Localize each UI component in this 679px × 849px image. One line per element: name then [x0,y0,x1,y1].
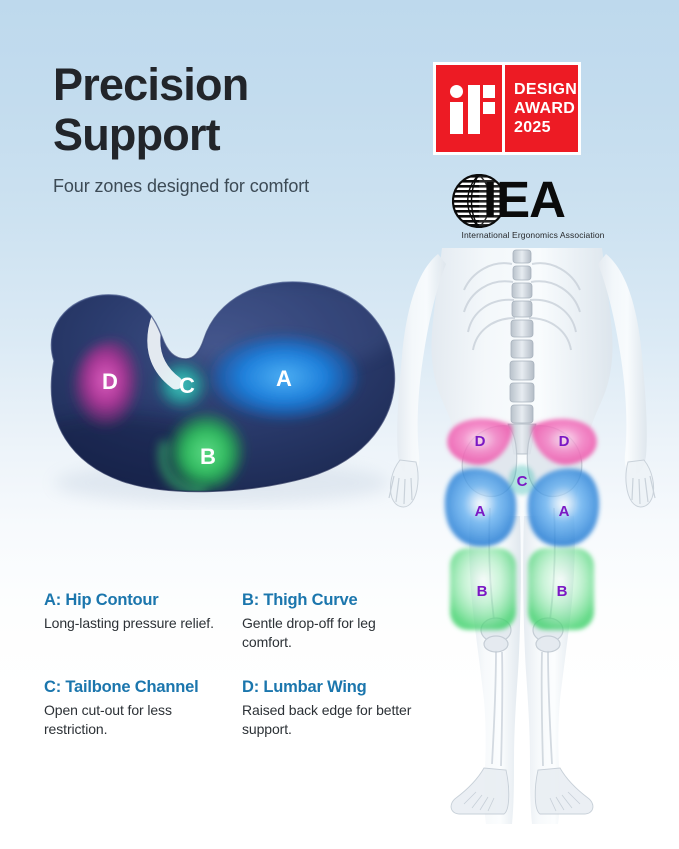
legend-item-c: C: Tailbone Channel Open cut-out for les… [44,678,242,739]
cushion-label-a: A [276,366,292,391]
right-foot [535,768,593,814]
legend-title-c: C: Tailbone Channel [44,678,228,697]
anatomy-label-d-right: D [559,433,570,450]
if-logo-stem [450,102,463,134]
legend-desc-b: Gentle drop-off for leg comfort. [242,614,426,652]
cushion-label-c: C [179,373,195,398]
if-design-award-badge: DESIGN AWARD 2025 [433,62,581,155]
left-hand [389,460,418,507]
legend-title-d: D: Lumbar Wing [242,678,426,697]
legend-title-a: A: Hip Contour [44,591,228,610]
legend-row-1: A: Hip Contour Long-lasting pressure rel… [44,591,444,652]
anatomy-label-c: C [517,473,528,490]
title-line-2: Support [53,110,413,160]
legend-desc-a: Long-lasting pressure relief. [44,614,228,633]
infographic-page: Precision Support Four zones designed fo… [0,0,679,849]
legend-item-a: A: Hip Contour Long-lasting pressure rel… [44,591,242,652]
headline-block: Precision Support Four zones designed fo… [53,60,413,198]
anatomy-label-b-left: B [477,583,488,600]
right-hand [626,460,655,507]
if-award-text: DESIGN AWARD 2025 [505,65,578,152]
cushion-label-b: B [200,444,216,469]
iea-letters: IEA [483,173,565,227]
iea-subtitle: International Ergonomics Association [454,230,612,240]
legend-item-d: D: Lumbar Wing Raised back edge for bett… [242,678,440,739]
anatomy-label-a-right: A [559,503,570,520]
if-logo-arm-1 [483,85,495,98]
anatomy-label-d-left: D [475,433,486,450]
legend-desc-d: Raised back edge for better support. [242,701,426,739]
page-subtitle: Four zones designed for comfort [53,174,413,198]
spine [510,250,534,423]
if-award-line-3: 2025 [514,118,578,137]
title-line-1: Precision [53,60,413,110]
cushion-label-d: D [102,369,118,394]
iea-logo-row: IEA [452,172,612,230]
zone-legend: A: Hip Contour Long-lasting pressure rel… [44,591,444,765]
if-award-line-1: DESIGN [514,80,578,99]
page-title: Precision Support [53,60,413,160]
if-award-line-2: AWARD [514,99,578,118]
legend-row-2: C: Tailbone Channel Open cut-out for les… [44,678,444,739]
legend-desc-c: Open cut-out for less restriction. [44,701,228,739]
if-logo-bar [468,85,480,134]
if-logo-dot [450,85,463,98]
if-logo-arm-2 [483,102,495,114]
left-foot [451,768,509,814]
anatomy-label-b-right: B [557,583,568,600]
if-logo-icon [436,65,502,152]
anatomy-label-a-left: A [475,503,486,520]
legend-item-b: B: Thigh Curve Gentle drop-off for leg c… [242,591,440,652]
legend-title-b: B: Thigh Curve [242,591,426,610]
cushion-illustration: D C A B [12,265,412,510]
iea-logo: IEA International Ergonomics Association [452,172,612,250]
